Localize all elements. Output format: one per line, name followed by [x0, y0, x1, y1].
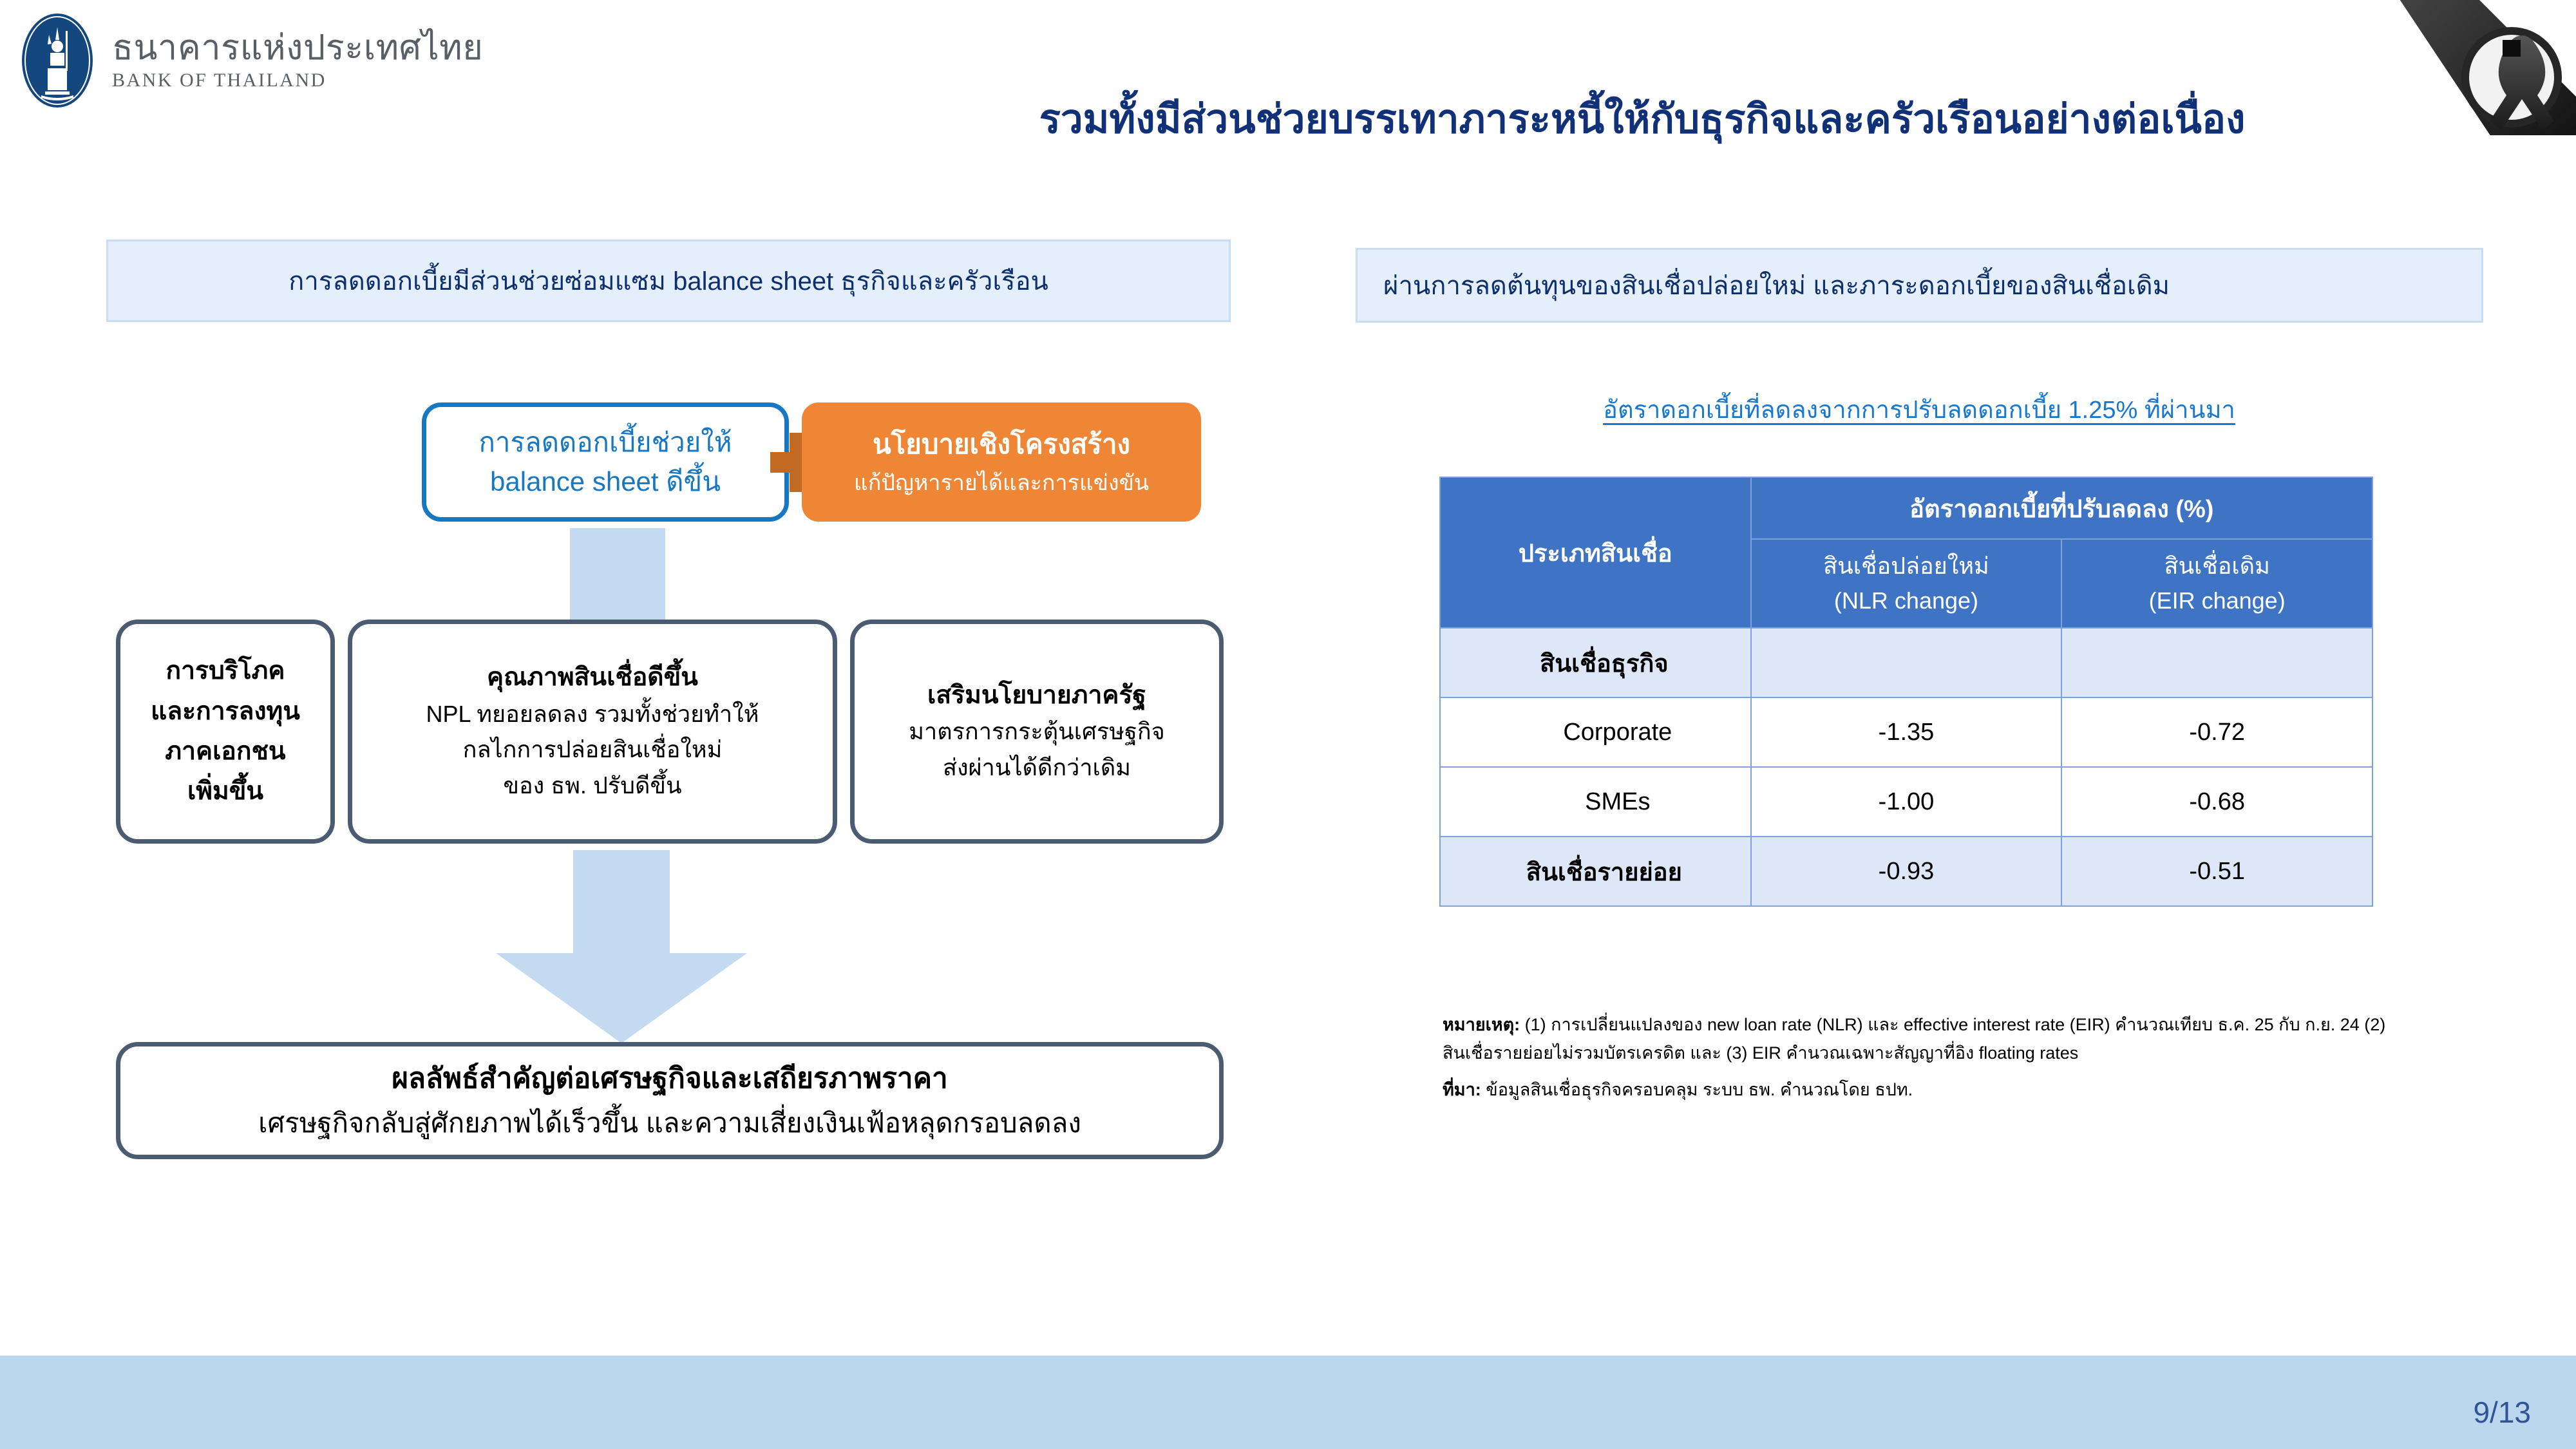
arrow-down-icon — [496, 850, 747, 1043]
effect-box-fiscal-support-line2: ส่งผ่านได้ดีกว่าเดิม — [943, 750, 1131, 786]
table-header-row-1: ประเภทสินเชื่อ อัตราดอกเบี้ยที่ปรับลดลง … — [1440, 477, 2372, 539]
rate-cut-box: การลดดอกเบี้ยช่วยให้ balance sheet ดีขึ้… — [422, 402, 789, 522]
table-row-label: Corporate — [1440, 697, 1751, 767]
table-header-nlr-line1: สินเชื่อปล่อยใหม่ — [1752, 549, 2061, 583]
table-row: สินเชื่อธุรกิจ — [1440, 628, 2372, 697]
table-row: Corporate -1.35 -0.72 — [1440, 697, 2372, 767]
effect-box-consumption-title: การบริโภค — [166, 651, 285, 691]
effect-box-consumption-line3: เพิ่มขึ้น — [187, 772, 263, 811]
table-cell-nlr — [1751, 628, 2062, 697]
table-header-eir: สินเชื่อเดิม (EIR change) — [2061, 539, 2372, 628]
table-header-nlr-line2: (NLR change) — [1752, 583, 2061, 618]
effect-box-credit-quality: คุณภาพสินเชื่อดีขึ้น NPL ทยอยลดลง รวมทั้… — [348, 620, 837, 844]
table-cell-eir — [2061, 628, 2372, 697]
table-row: สินเชื่อรายย่อย -0.93 -0.51 — [1440, 837, 2372, 906]
right-banner-label: ผ่านการลดต้นทุนของสินเชื่อปล่อยใหม่ และภ… — [1358, 265, 2481, 306]
effect-box-credit-quality-title: คุณภาพสินเชื่อดีขึ้น — [487, 659, 698, 696]
effect-box-fiscal-support-line1: มาตรการกระตุ้นเศรษฐกิจ — [909, 714, 1164, 750]
effect-box-credit-quality-line2: กลไกการปล่อยสินเชื่อใหม่ — [463, 732, 723, 768]
table-cell-nlr: -1.35 — [1751, 697, 2062, 767]
table-cell-eir: -0.72 — [2061, 697, 2372, 767]
rate-cut-line2: balance sheet ดีขึ้น — [490, 462, 721, 502]
effect-box-credit-quality-line3: ของ ธพ. ปรับดีขึ้น — [503, 768, 681, 804]
table-header-eir-line2: (EIR change) — [2062, 583, 2372, 618]
result-box: ผลลัพธ์สำคัญต่อเศรษฐกิจและเสถียรภาพราคา … — [116, 1042, 1224, 1159]
source-line: ที่มา: ข้อมูลสินเชื่อธุรกิจครอบคลุม ระบบ… — [1443, 1076, 2409, 1104]
vertical-connector-icon — [570, 528, 665, 634]
effect-box-fiscal-support-title: เสริมนโยบายภาครัฐ — [927, 677, 1146, 714]
structural-policy-line2: แก้ปัญหารายได้และการแข่งขัน — [854, 469, 1149, 497]
table-cell-eir: -0.51 — [2061, 837, 2372, 906]
table-caption: อัตราดอกเบี้ยที่ลดลงจากการปรับลดดอกเบี้ย… — [1517, 390, 2322, 429]
table-cell-nlr: -0.93 — [1751, 837, 2062, 906]
notes-text: (1) การเปลี่ยนแปลงของ new loan rate (NLR… — [1443, 1015, 2385, 1063]
result-box-line2: เศรษฐกิจกลับสู่ศักยภาพได้เร็วขึ้น และควา… — [258, 1104, 1081, 1142]
table-header-eir-line1: สินเชื่อเดิม — [2062, 549, 2372, 583]
bot-logo-text: ธนาคารแห่งประเทศไทย BANK OF THAILAND — [112, 30, 483, 92]
effect-box-consumption: การบริโภค และการลงทุน ภาคเอกชน เพิ่มขึ้น — [116, 620, 335, 844]
effect-box-fiscal-support: เสริมนโยบายภาครัฐ มาตรการกระตุ้นเศรษฐกิจ… — [850, 620, 1224, 844]
table-row-label: สินเชื่อรายย่อย — [1440, 837, 1751, 906]
table-row-label: สินเชื่อธุรกิจ — [1440, 628, 1751, 697]
left-banner-label: การลดดอกเบี้ยมีส่วนช่วยซ่อมแซม balance s… — [289, 260, 1048, 301]
table-notes: หมายเหตุ: (1) การเปลี่ยนแปลงของ new loan… — [1443, 1011, 2409, 1104]
structural-policy-box: นโยบายเชิงโครงสร้าง แก้ปัญหารายได้และการ… — [802, 402, 1201, 522]
bot-name-en: BANK OF THAILAND — [112, 70, 483, 91]
right-section-banner: ผ่านการลดต้นทุนของสินเชื่อปล่อยใหม่ และภ… — [1356, 248, 2483, 323]
table-cell-nlr: -1.00 — [1751, 767, 2062, 837]
structural-policy-line1: นโยบายเชิงโครงสร้าง — [873, 427, 1130, 462]
result-box-line1: ผลลัพธ์สำคัญต่อเศรษฐกิจและเสถียรภาพราคา — [392, 1059, 947, 1099]
table-cell-eir: -0.68 — [2061, 767, 2372, 837]
table-header-rate-change: อัตราดอกเบี้ยที่ปรับลดลง (%) — [1751, 477, 2372, 539]
effect-box-credit-quality-line1: NPL ทยอยลดลง รวมทั้งช่วยทำให้ — [426, 696, 759, 732]
table-header-loan-type: ประเภทสินเชื่อ — [1440, 477, 1751, 628]
effect-box-consumption-line2: ภาคเอกชน — [165, 732, 285, 772]
source-label: ที่มา: — [1443, 1080, 1481, 1099]
effect-box-consumption-line1: และการลงทุน — [151, 692, 300, 732]
bot-seal-icon — [19, 12, 95, 109]
notes-label: หมายเหตุ: — [1443, 1015, 1520, 1034]
bot-name-th: ธนาคารแห่งประเทศไทย — [112, 30, 483, 66]
footer-bar — [0, 1356, 2576, 1449]
page-number: 9/13 — [2473, 1395, 2531, 1430]
slide-root: ธนาคารแห่งประเทศไทย BANK OF THAILAND รวม… — [0, 0, 2576, 1449]
notes-line: หมายเหตุ: (1) การเปลี่ยนแปลงของ new loan… — [1443, 1011, 2409, 1067]
table-row: SMEs -1.00 -0.68 — [1440, 767, 2372, 837]
table-row-label: SMEs — [1440, 767, 1751, 837]
left-section-banner: การลดดอกเบี้ยมีส่วนช่วยซ่อมแซม balance s… — [106, 240, 1231, 322]
rate-table: ประเภทสินเชื่อ อัตราดอกเบี้ยที่ปรับลดลง … — [1439, 477, 2373, 907]
source-text: ข้อมูลสินเชื่อธุรกิจครอบคลุม ระบบ ธพ. คำ… — [1481, 1080, 1913, 1099]
rate-cut-line1: การลดดอกเบี้ยช่วยให้ — [478, 423, 732, 462]
table-header-nlr: สินเชื่อปล่อยใหม่ (NLR change) — [1751, 539, 2062, 628]
bot-logo: ธนาคารแห่งประเทศไทย BANK OF THAILAND — [19, 12, 483, 109]
page-title: รวมทั้งมีส่วนช่วยบรรเทาภาระหนี้ให้กับธุร… — [773, 97, 2512, 142]
